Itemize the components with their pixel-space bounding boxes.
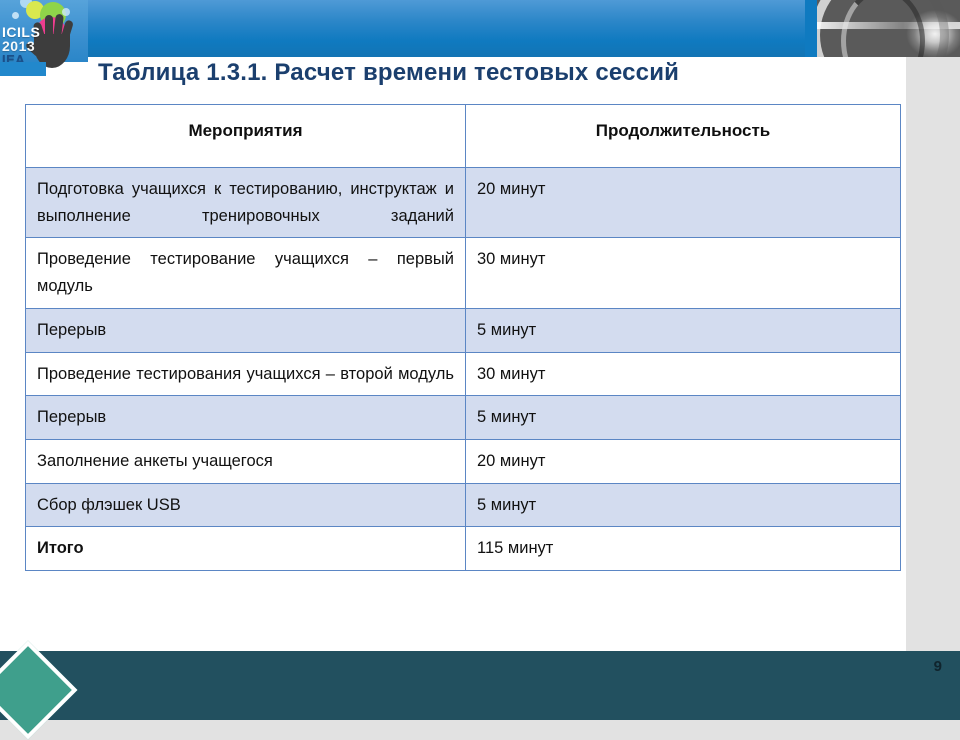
table-body: Подготовка учащихся к тестированию, инст… (26, 168, 901, 571)
cell-duration: 5 минут (466, 483, 901, 527)
table-row: Подготовка учащихся к тестированию, инст… (26, 168, 901, 238)
session-timing-table-wrapper: Мероприятия Продолжительность Подготовка… (25, 104, 900, 571)
cell-activity: Проведение тестирование учащихся – первы… (26, 238, 466, 308)
page-title: Таблица 1.3.1. Расчет времени тестовых с… (98, 59, 679, 87)
cell-activity: Перерыв (26, 396, 466, 440)
column-header-duration: Продолжительность (466, 105, 901, 168)
table-row: Заполнение анкеты учащегося20 минут (26, 440, 901, 484)
slide-right-margin (906, 57, 960, 651)
cell-activity: Сбор флэшек USB (26, 483, 466, 527)
cell-duration: 30 минут (466, 352, 901, 396)
session-timing-table: Мероприятия Продолжительность Подготовка… (25, 104, 901, 571)
banner-blue-strip (805, 0, 817, 57)
cell-duration: 115 минут (466, 527, 901, 571)
banner-decorative-image (817, 0, 960, 57)
cell-activity: Проведение тестирования учащихся – второ… (26, 352, 466, 396)
table-row: Перерыв5 минут (26, 396, 901, 440)
table-row: Перерыв5 минут (26, 308, 901, 352)
logo-footer-bar (0, 62, 46, 76)
cell-activity: Перерыв (26, 308, 466, 352)
cell-duration: 20 минут (466, 168, 901, 238)
table-row: Проведение тестирования учащихся – второ… (26, 352, 901, 396)
cell-duration: 30 минут (466, 238, 901, 308)
icils-logo: ICILS 2013 IEA (0, 0, 88, 80)
top-banner (0, 0, 960, 57)
cell-duration: 5 минут (466, 396, 901, 440)
cell-duration: 5 минут (466, 308, 901, 352)
table-row: Сбор флэшек USB5 минут (26, 483, 901, 527)
table-row: Итого115 минут (26, 527, 901, 571)
cell-duration: 20 минут (466, 440, 901, 484)
cell-activity: Подготовка учащихся к тестированию, инст… (26, 168, 466, 238)
arc-shape-inner (841, 0, 925, 57)
logo-bubble-small-a-icon (12, 12, 19, 19)
cell-activity: Заполнение анкеты учащегося (26, 440, 466, 484)
cell-activity: Итого (26, 527, 466, 571)
slide-footer (0, 651, 960, 720)
column-header-activity: Мероприятия (26, 105, 466, 168)
table-header-row: Мероприятия Продолжительность (26, 105, 901, 168)
page-number: 9 (934, 658, 942, 675)
table-row: Проведение тестирование учащихся – первы… (26, 238, 901, 308)
